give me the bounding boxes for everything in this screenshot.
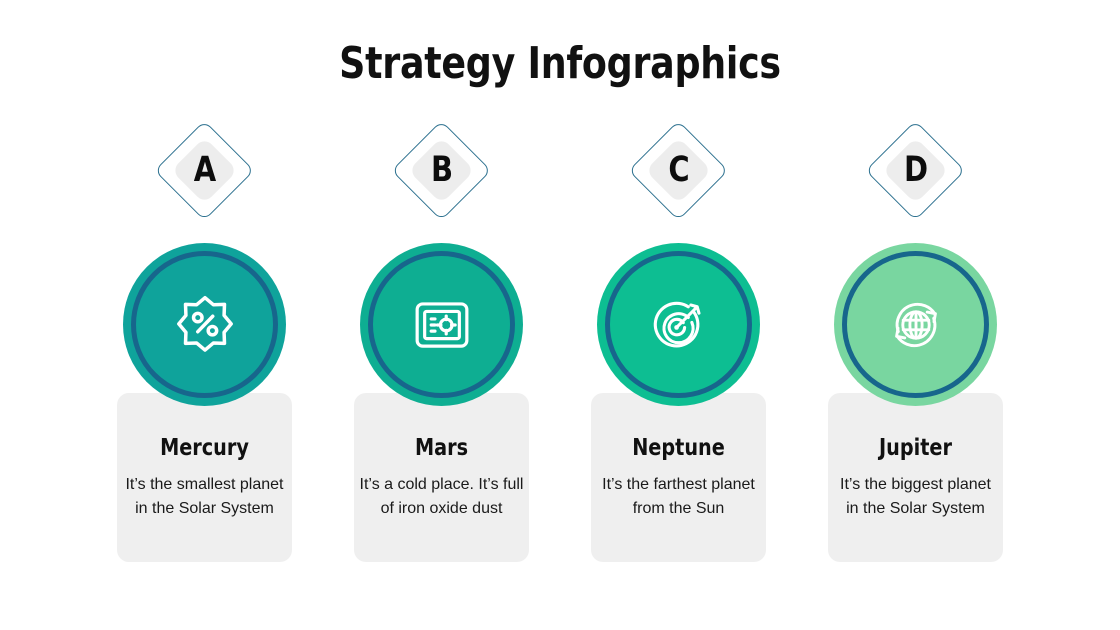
globe-exchange-arrows-icon — [834, 243, 997, 406]
letter-diamond[interactable]: D — [866, 120, 966, 220]
icon-circle[interactable] — [360, 243, 523, 406]
letter-diamond[interactable]: C — [629, 120, 729, 220]
card-title: Mars — [360, 437, 523, 460]
diamond-letter: A — [159, 120, 251, 220]
info-card: Neptune It’s the farthest planet from th… — [591, 393, 766, 562]
target-bullseye-arrow-icon — [597, 243, 760, 406]
icon-circle[interactable] — [597, 243, 760, 406]
infographic-slide: Strategy Infographics Mercury It’s the s… — [0, 0, 1120, 630]
card-description: It’s a cold place. It’s full of iron oxi… — [358, 473, 525, 521]
discount-badge-percent-icon — [123, 243, 286, 406]
card-description: It’s the farthest planet from the Sun — [595, 473, 762, 521]
letter-diamond[interactable]: A — [155, 120, 255, 220]
card-description: It’s the smallest planet in the Solar Sy… — [121, 473, 288, 521]
icon-circle[interactable] — [834, 243, 997, 406]
strategy-columns: Mercury It’s the smallest planet in the … — [0, 0, 1120, 630]
strategy-item-1: Mercury It’s the smallest planet in the … — [86, 0, 323, 630]
icon-circle[interactable] — [123, 243, 286, 406]
card-title: Jupiter — [834, 437, 997, 460]
info-card: Jupiter It’s the biggest planet in the S… — [828, 393, 1003, 562]
info-card: Mercury It’s the smallest planet in the … — [117, 393, 292, 562]
card-title: Mercury — [123, 437, 286, 460]
card-description: It’s the biggest planet in the Solar Sys… — [832, 473, 999, 521]
safe-vault-icon — [360, 243, 523, 406]
diamond-letter: D — [870, 120, 962, 220]
strategy-item-3: Neptune It’s the farthest planet from th… — [560, 0, 797, 630]
strategy-item-4: Jupiter It’s the biggest planet in the S… — [797, 0, 1034, 630]
info-card: Mars It’s a cold place. It’s full of iro… — [354, 393, 529, 562]
letter-diamond[interactable]: B — [392, 120, 492, 220]
strategy-item-2: Mars It’s a cold place. It’s full of iro… — [323, 0, 560, 630]
diamond-letter: C — [633, 120, 725, 220]
diamond-letter: B — [396, 120, 488, 220]
card-title: Neptune — [597, 437, 760, 460]
